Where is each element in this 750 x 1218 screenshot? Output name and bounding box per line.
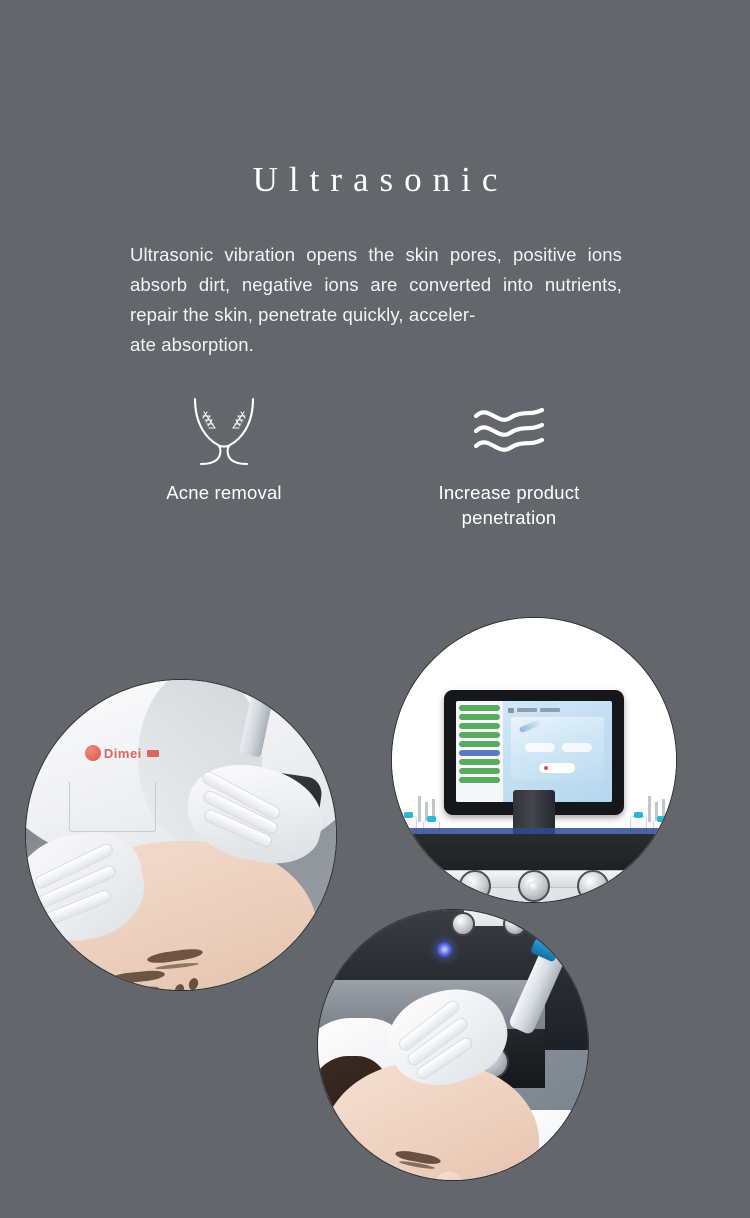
menu-item[interactable] (459, 741, 500, 747)
machine-touchscreen[interactable] (456, 701, 612, 802)
photo-collage: Dimei (0, 600, 750, 1160)
eyebrow (109, 969, 166, 985)
logo-accent-block (147, 750, 159, 757)
feature-acne-removal: Acne removal (124, 396, 324, 505)
menu-item[interactable] (459, 714, 500, 720)
lab-coat-pocket (69, 782, 156, 832)
feature-label: Acne removal (124, 480, 324, 505)
page-title: Ultrasonic (0, 158, 750, 202)
wavy-lines-penetration-icon (409, 396, 609, 466)
menu-item[interactable] (459, 777, 500, 783)
ultrasonic-product-page: Ultrasonic Ultrasonic vibration opens th… (0, 0, 750, 1218)
machine-knob-row (459, 870, 609, 902)
menu-item[interactable] (459, 732, 500, 738)
machine-screen-card (511, 717, 604, 780)
lab-coat-logo: Dimei (85, 745, 159, 761)
nose (173, 978, 203, 990)
logo-text: Dimei (104, 746, 142, 761)
machine-screen-menu[interactable] (456, 701, 503, 802)
screen-wand-icon (519, 719, 544, 734)
machine-screen-panel (503, 701, 612, 802)
menu-item[interactable] (459, 705, 500, 711)
closed-eye (155, 962, 199, 971)
machine-knob[interactable] (577, 870, 609, 902)
feature-increase-penetration: Increase product penetration (409, 396, 609, 530)
description-line-1: Ultrasonic vibration opens the skin pore… (130, 244, 577, 265)
menu-item[interactable] (459, 723, 500, 729)
machine-console-photo (392, 618, 676, 902)
description-line-4: ate absorption. (130, 330, 622, 360)
screen-start-button[interactable] (539, 763, 575, 773)
closed-eye (115, 986, 159, 990)
machine-knob[interactable] (451, 912, 475, 936)
nose (436, 1172, 462, 1180)
machine-knob[interactable] (503, 912, 527, 936)
feature-list: Acne removal Increase product penetratio… (0, 396, 750, 546)
logo-mark-icon (85, 745, 101, 761)
menu-item[interactable] (459, 768, 500, 774)
machine-knob[interactable] (459, 870, 491, 902)
menu-item-selected[interactable] (459, 750, 500, 756)
screen-stepper-left[interactable] (525, 743, 555, 752)
ultrasonic-treatment-photo: Dimei (26, 680, 336, 990)
menu-item[interactable] (459, 759, 500, 765)
eyebrow (377, 1169, 424, 1180)
screen-stepper-right[interactable] (562, 743, 592, 752)
machine-screen-statusbar (508, 707, 607, 713)
face-jaw-acne-icon (124, 396, 324, 466)
handpiece-on-face-photo (318, 910, 588, 1180)
feature-label: Increase product penetration (409, 480, 609, 530)
description-text: Ultrasonic vibration opens the skin pore… (130, 240, 622, 360)
